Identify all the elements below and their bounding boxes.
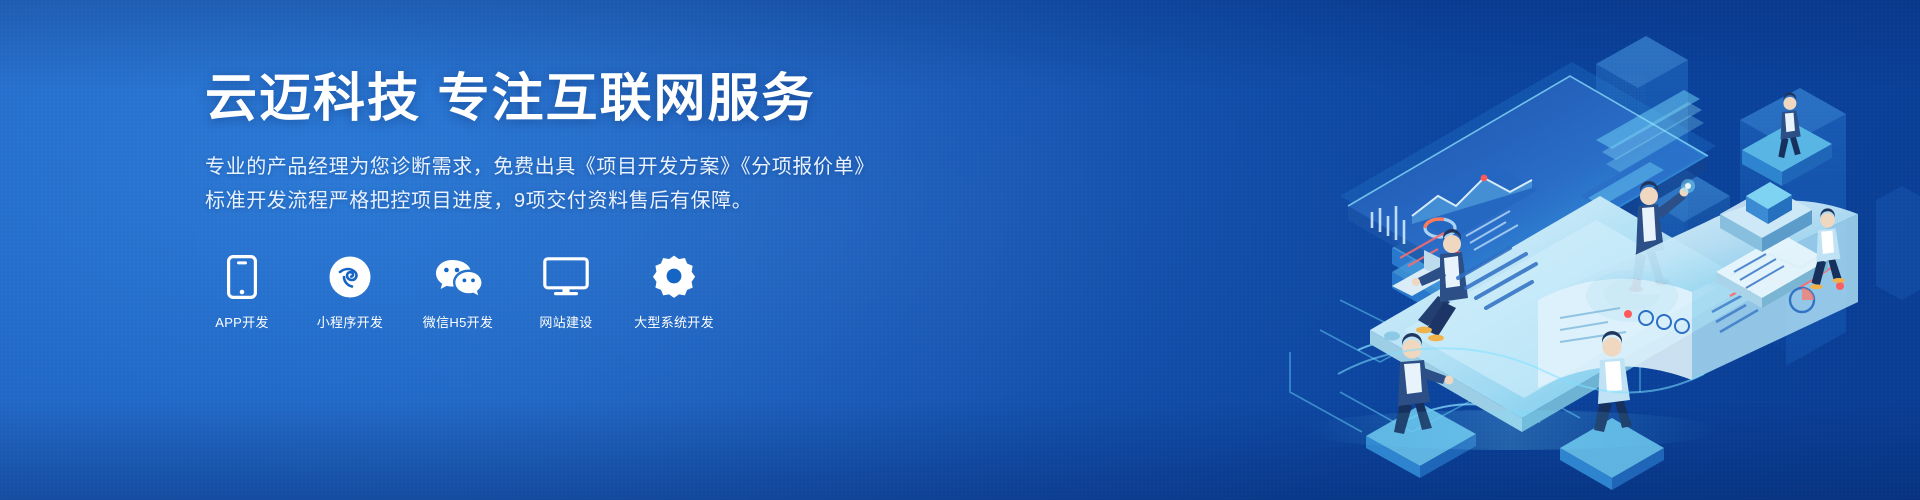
service-label: 微信H5开发 <box>423 312 493 331</box>
service-label: APP开发 <box>215 312 269 331</box>
service-item-mini-program[interactable]: 小程序开发 <box>313 254 387 331</box>
service-item-large-system[interactable]: 大型系统开发 <box>637 254 711 331</box>
mini-program-icon <box>328 254 372 300</box>
subtitle-line-1: 专业的产品经理为您诊断需求，免费出具《项目开发方案》《分项报价单》 <box>205 150 965 184</box>
service-item-website[interactable]: 网站建设 <box>529 254 603 331</box>
subtitle-line-2: 标准开发流程严格把控项目进度，9项交付资料售后有保障。 <box>205 184 965 218</box>
service-label: 小程序开发 <box>317 312 384 331</box>
page-title: 云迈科技 专注互联网服务 <box>205 70 965 128</box>
service-item-app[interactable]: APP开发 <box>205 254 279 331</box>
service-label: 网站建设 <box>539 312 592 331</box>
hero-illustration <box>1040 0 1920 500</box>
hero-content: 云迈科技 专注互联网服务 专业的产品经理为您诊断需求，免费出具《项目开发方案》《… <box>205 70 965 331</box>
mobile-phone-icon <box>227 254 257 300</box>
wechat-icon <box>434 254 482 300</box>
service-label: 大型系统开发 <box>634 312 714 331</box>
service-item-wechat-h5[interactable]: 微信H5开发 <box>421 254 495 331</box>
hero-banner: 云迈科技 专注互联网服务 专业的产品经理为您诊断需求，免费出具《项目开发方案》《… <box>0 0 1920 500</box>
monitor-icon <box>543 254 589 300</box>
service-list: APP开发 小程序开发 <box>205 254 965 331</box>
gear-icon <box>652 254 696 300</box>
